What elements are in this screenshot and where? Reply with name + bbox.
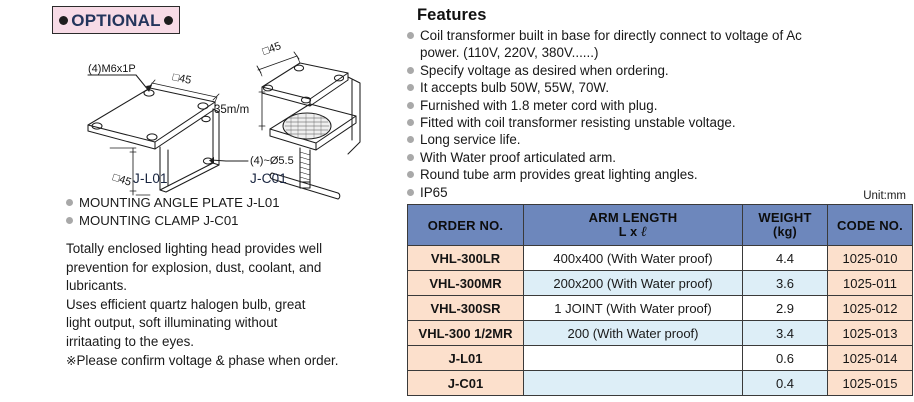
cell-arm-length: 200x200 (With Water proof)	[524, 271, 743, 296]
description-line: Uses efficient quartz halogen bulb, grea…	[66, 296, 398, 315]
description-line: light output, soft illuminating without	[66, 314, 398, 333]
table-header-row: ORDER NO. ARM LENGTH L x ℓ WEIGHT (kg) C…	[408, 205, 913, 246]
technical-drawings-svg: (4)M6x1P (4)~Ø5.5 □45 □45 □45 35m/m	[0, 30, 405, 220]
feature-text: Coil transformer built in base for direc…	[420, 27, 912, 62]
cell-arm-length: 1 JOINT (With Water proof)	[524, 296, 743, 321]
features-list: Coil transformer built in base for direc…	[407, 27, 912, 201]
table-row: VHL-300LR 400x400 (With Water proof) 4.4…	[408, 246, 913, 271]
bullet-icon	[407, 84, 414, 91]
table-row: VHL-300MR 200x200 (With Water proof) 3.6…	[408, 271, 913, 296]
feature-item: Specify voltage as desired when ordering…	[407, 62, 912, 79]
cell-weight: 3.4	[743, 321, 828, 346]
feature-item: IP65	[407, 184, 912, 201]
description-line: Totally enclosed lighting head provides …	[66, 240, 398, 259]
cell-order-no: VHL-300SR	[408, 296, 524, 321]
feature-item: Round tube arm provides great lighting a…	[407, 166, 912, 183]
table-row: J-L01 0.6 1025-014	[408, 346, 913, 371]
cell-code-no: 1025-013	[828, 321, 913, 346]
feature-text: IP65	[420, 184, 912, 201]
features-and-spec-panel: Features Coil transformer built in base …	[405, 0, 914, 402]
feature-line-2: power. (110V, 220V, 380V......)	[420, 44, 912, 61]
optional-items-list: MOUNTING ANGLE PLATE J-L01 MOUNTING CLAM…	[66, 194, 396, 230]
description-line: irritaating to the eyes.	[66, 333, 398, 352]
bullet-icon	[66, 217, 73, 224]
callout-thread-label: (4)M6x1P	[88, 63, 136, 75]
bullet-icon	[407, 32, 414, 39]
bullet-icon	[407, 67, 414, 74]
bullet-icon	[407, 189, 414, 196]
description-line: lubricants.	[66, 277, 398, 296]
cell-order-no: VHL-300 1/2MR	[408, 321, 524, 346]
feature-text: With Water proof articulated arm.	[420, 149, 912, 166]
accessory-drawings: (4)M6x1P (4)~Ø5.5 □45 □45 □45 35m/m	[0, 30, 405, 190]
table-row: VHL-300 1/2MR 200 (With Water proof) 3.4…	[408, 321, 913, 346]
feature-item: Long service life.	[407, 131, 912, 148]
bullet-icon	[407, 154, 414, 161]
features-heading: Features	[417, 6, 487, 25]
dim-bottom-label: □45	[111, 171, 133, 188]
cell-weight: 2.9	[743, 296, 828, 321]
bullet-icon	[407, 171, 414, 178]
feature-item: It accepts bulb 50W, 55W, 70W.	[407, 79, 912, 96]
optional-accessories-panel: OPTIONAL	[0, 0, 405, 402]
column-header-code-no: CODE NO.	[828, 205, 913, 246]
cell-code-no: 1025-012	[828, 296, 913, 321]
cell-code-no: 1025-014	[828, 346, 913, 371]
drawing-caption-jl01: J-L01	[133, 171, 168, 186]
bullet-dot-icon	[59, 16, 68, 25]
dim-top-label: □45	[171, 71, 192, 87]
optional-item-label: MOUNTING CLAMP J-C01	[79, 212, 239, 229]
cell-weight: 4.4	[743, 246, 828, 271]
feature-text: Round tube arm provides great lighting a…	[420, 166, 912, 183]
ell-symbol: ℓ	[641, 225, 647, 240]
feature-text: Furnished with 1.8 meter cord with plug.	[420, 97, 912, 114]
unit-label: Unit:mm	[863, 190, 906, 202]
product-description: Totally enclosed lighting head provides …	[66, 240, 398, 370]
cell-arm-length	[524, 371, 743, 396]
arm-sub-prefix: L x	[619, 225, 641, 239]
cell-weight: 0.6	[743, 346, 828, 371]
bullet-icon	[407, 102, 414, 109]
column-header-weight: WEIGHT (kg)	[743, 205, 828, 246]
cell-order-no: VHL-300MR	[408, 271, 524, 296]
feature-item: Coil transformer built in base for direc…	[407, 27, 912, 62]
bullet-dot-icon	[164, 16, 173, 25]
feature-text: Specify voltage as desired when ordering…	[420, 62, 912, 79]
column-header-arm-length: ARM LENGTH L x ℓ	[524, 205, 743, 246]
drawing-caption-jc01: J-C01	[250, 171, 287, 186]
feature-item: Fitted with coil transformer resisting u…	[407, 114, 912, 131]
bullet-icon	[407, 136, 414, 143]
bullet-icon	[66, 199, 73, 206]
spec-table-container: ORDER NO. ARM LENGTH L x ℓ WEIGHT (kg) C…	[407, 204, 912, 396]
list-item: MOUNTING ANGLE PLATE J-L01	[66, 194, 396, 211]
datasheet-page: OPTIONAL	[0, 0, 914, 402]
weight-main: WEIGHT	[758, 210, 811, 225]
feature-item: Furnished with 1.8 meter cord with plug.	[407, 97, 912, 114]
cell-order-no: J-L01	[408, 346, 524, 371]
column-header-order-no: ORDER NO.	[408, 205, 524, 246]
cell-arm-length: 400x400 (With Water proof)	[524, 246, 743, 271]
description-note-text: Please confirm voltage & phase when orde…	[76, 353, 338, 368]
reference-mark-icon: ※	[66, 354, 76, 368]
cell-code-no: 1025-010	[828, 246, 913, 271]
feature-text: Fitted with coil transformer resisting u…	[420, 114, 912, 131]
list-item: MOUNTING CLAMP J-C01	[66, 212, 396, 229]
spec-table: ORDER NO. ARM LENGTH L x ℓ WEIGHT (kg) C…	[407, 204, 913, 396]
cell-order-no: J-C01	[408, 371, 524, 396]
cell-weight: 3.6	[743, 271, 828, 296]
optional-item-label: MOUNTING ANGLE PLATE J-L01	[79, 194, 280, 211]
cell-arm-length	[524, 346, 743, 371]
feature-text: It accepts bulb 50W, 55W, 70W.	[420, 79, 912, 96]
feature-line-1: Coil transformer built in base for direc…	[420, 28, 802, 43]
feature-text: Long service life.	[420, 131, 912, 148]
arm-length-sub: L x ℓ	[524, 225, 742, 240]
cell-order-no: VHL-300LR	[408, 246, 524, 271]
weight-sub: (kg)	[743, 225, 827, 240]
description-note: ※Please confirm voltage & phase when ord…	[66, 352, 398, 371]
cell-weight: 0.4	[743, 371, 828, 396]
table-row: VHL-300SR 1 JOINT (With Water proof) 2.9…	[408, 296, 913, 321]
table-row: J-C01 0.4 1025-015	[408, 371, 913, 396]
optional-badge-label: OPTIONAL	[71, 12, 160, 29]
arm-length-main: ARM LENGTH	[589, 210, 678, 225]
description-line: prevention for explosion, dust, coolant,…	[66, 259, 398, 278]
feature-item: With Water proof articulated arm.	[407, 149, 912, 166]
cell-arm-length: 200 (With Water proof)	[524, 321, 743, 346]
cell-code-no: 1025-011	[828, 271, 913, 296]
callout-hole-label: (4)~Ø5.5	[250, 155, 294, 167]
cell-code-no: 1025-015	[828, 371, 913, 396]
dim-clamp-height-label: 35m/m	[214, 104, 249, 116]
dim-clamp-top-label: □45	[261, 40, 283, 58]
bullet-icon	[407, 119, 414, 126]
